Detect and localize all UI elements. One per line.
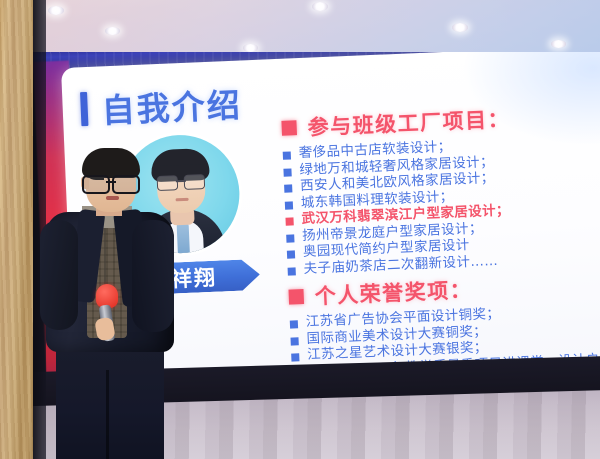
bullet-square-icon — [284, 184, 292, 192]
bullet-list: 奢侈品中古店软装设计；绿地万和城轻奢风格家居设计；西安人和美北欧风格家居设计；城… — [282, 132, 600, 278]
presenter-hair — [82, 148, 140, 178]
downlight-icon — [48, 6, 64, 15]
downlight-icon — [452, 23, 468, 32]
downlight-icon — [243, 44, 258, 52]
wooden-column — [0, 0, 33, 459]
slide-title: 自我介绍 — [101, 78, 243, 132]
bullet-square-icon — [283, 151, 291, 159]
presenter-arm-right — [132, 220, 174, 332]
bullet-square-icon — [291, 353, 299, 361]
title-accent-bar — [80, 92, 88, 126]
downlight-icon — [105, 27, 120, 35]
section-bullet-square-icon — [288, 289, 304, 305]
bullet-square-icon — [290, 320, 298, 328]
presenter-glasses-icon — [82, 175, 140, 190]
bullet-square-icon — [288, 267, 296, 275]
presenter-arm-left — [40, 220, 78, 330]
slide-content: 参与班级工厂项目：奢侈品中古店软装设计；绿地万和城轻奢风格家居设计；西安人和美北… — [281, 98, 600, 398]
presentation-photo-scene: 自我介绍 罗祥翔 参与班级工厂项目： — [0, 0, 600, 459]
presenter-mouth — [106, 196, 119, 200]
bullet-square-icon — [283, 168, 291, 176]
bullet-square-icon — [286, 234, 294, 242]
presenter — [38, 150, 188, 459]
bullet-square-icon — [285, 217, 293, 225]
slide-header: 自我介绍 — [80, 78, 243, 133]
presenter-trousers — [56, 336, 164, 459]
bullet-square-icon — [287, 250, 295, 258]
bullet-square-icon — [285, 201, 293, 209]
section-bullet-square-icon — [281, 120, 297, 136]
bullet-square-icon — [290, 337, 298, 345]
downlight-icon — [551, 40, 566, 48]
downlight-icon — [312, 2, 328, 11]
section-heading-label: 个人荣誉奖项： — [314, 274, 473, 311]
section-heading-label: 参与班级工厂项目： — [307, 103, 511, 141]
